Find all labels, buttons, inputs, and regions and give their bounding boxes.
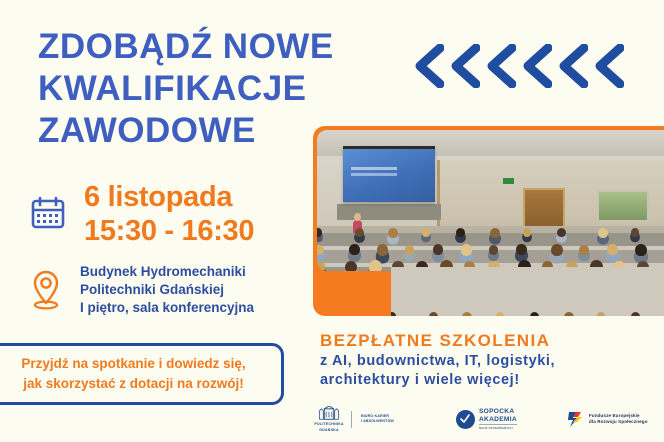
logo-politechnika-gdanska: POLITECHNIKA GDAŃSKA BIURO KARIER I ABSO… xyxy=(316,406,394,432)
audience-head xyxy=(462,312,472,317)
event-location-text: Budynek Hydromechaniki Politechniki Gdań… xyxy=(80,263,254,317)
eu-stars-glyph xyxy=(565,409,585,429)
chevron-left-icon xyxy=(482,44,516,88)
photo-scene-continued xyxy=(391,267,664,316)
location-line-1: Budynek Hydromechaniki xyxy=(80,263,254,281)
sopocka-subtitle: NAUK STOSOWANYCH xyxy=(479,424,517,430)
promo-line-2: architektury i wiele więcej! xyxy=(320,371,660,390)
photo-composition xyxy=(313,126,664,316)
lecture-hall-photo-lower xyxy=(391,267,664,316)
audience-head xyxy=(523,228,531,236)
logo-divider xyxy=(351,411,352,428)
cta-line-2: jak skorzystać z dotacji na rozwój! xyxy=(21,374,245,394)
cta-line-1: Przyjdź na spotkanie i dowiedz się, xyxy=(21,354,245,374)
audience-head xyxy=(355,228,364,237)
scene-projector-screen xyxy=(343,146,435,202)
event-time: 15:30 - 16:30 xyxy=(84,214,254,248)
sopocka-line-2: AKADEMIA xyxy=(479,416,517,424)
audience-head xyxy=(496,312,504,316)
eu-wordmark: Fundusze Europejskie dla Rozwoju Społecz… xyxy=(589,413,648,425)
photo-scene xyxy=(317,130,664,271)
pg-crest-glyph xyxy=(317,406,341,421)
headline-line-2: KWALIFIKACJE xyxy=(38,68,408,110)
promo-line-1: z AI, budownictwa, IT, logistyki, xyxy=(320,352,660,371)
audience-head xyxy=(317,245,324,255)
scene-audience xyxy=(317,226,664,271)
chevron-left-icon xyxy=(554,44,588,88)
audience-head xyxy=(631,312,640,316)
pg-subunit-line-2: I ABSOLWENTÓW xyxy=(361,419,394,424)
audience-head xyxy=(579,245,589,255)
chevron-left-icon xyxy=(518,44,552,88)
audience-head xyxy=(422,228,430,236)
pg-name-line-1: POLITECHNIKA xyxy=(314,422,343,426)
pg-crest-icon: POLITECHNIKA GDAŃSKA xyxy=(316,406,342,432)
audience-head xyxy=(635,244,647,256)
chevron-left-icon xyxy=(590,44,624,88)
audience-head xyxy=(490,228,500,239)
audience-head xyxy=(607,244,618,255)
map-pin-icon xyxy=(28,268,64,312)
check-glyph xyxy=(459,413,471,425)
event-location-block: Budynek Hydromechaniki Politechniki Gdań… xyxy=(28,263,254,317)
calendar-icon xyxy=(28,194,68,234)
audience-head xyxy=(631,228,639,236)
location-line-2: Politechniki Gdańskiej xyxy=(80,281,254,299)
chevron-left-icon xyxy=(446,44,480,88)
audience-head xyxy=(456,228,465,237)
event-date: 6 listopada xyxy=(84,180,254,214)
cta-box: Przyjdź na spotkanie i dowiedz się, jak … xyxy=(0,343,284,405)
promo-block: BEZPŁATNE SZKOLENIA z AI, budownictwa, I… xyxy=(320,330,660,390)
audience-head xyxy=(317,261,325,271)
logo-sopocka-akademia: SOPOCKA AKADEMIA NAUK STOSOWANYCH xyxy=(456,408,517,429)
audience-head xyxy=(369,260,382,271)
promo-title: BEZPŁATNE SZKOLENIA xyxy=(320,330,660,352)
audience-head xyxy=(391,312,396,316)
sopocka-line-1: SOPOCKA xyxy=(479,408,517,416)
scene-exit-sign xyxy=(503,178,514,184)
audience-head xyxy=(530,312,539,316)
audience-head xyxy=(345,261,357,272)
scene-audience-lower xyxy=(391,267,664,316)
scene-whiteboard xyxy=(337,204,441,220)
eu-flag-icon xyxy=(565,409,585,429)
cta-text: Przyjdź na spotkanie i dowiedz się, jak … xyxy=(21,354,245,394)
audience-head xyxy=(349,244,360,255)
audience-head xyxy=(564,312,574,317)
audience-head xyxy=(405,245,415,255)
location-line-3: I piętro, sala konferencyjna xyxy=(80,299,254,317)
audience-head xyxy=(598,228,608,239)
sopocka-wordmark: SOPOCKA AKADEMIA NAUK STOSOWANYCH xyxy=(479,408,517,429)
audience-head xyxy=(317,228,322,236)
pg-name-line-2: GDAŃSKA xyxy=(319,428,339,432)
audience-head xyxy=(551,244,563,256)
audience-head xyxy=(597,312,605,316)
logo-fundusze-europejskie: Fundusze Europejskie dla Rozwoju Społecz… xyxy=(565,409,648,429)
pg-subunit: BIURO KARIER I ABSOLWENTÓW xyxy=(361,414,394,424)
audience-head xyxy=(489,245,499,255)
audience-head xyxy=(461,244,473,256)
lecture-hall-photo xyxy=(317,130,664,271)
eu-line-2: dla Rozwoju Społecznego xyxy=(589,419,648,425)
chevron-decoration xyxy=(410,44,624,88)
headline-line-1: ZDOBĄDŹ NOWE xyxy=(38,26,408,68)
sopocka-check-icon xyxy=(456,410,475,429)
audience-head xyxy=(557,228,566,237)
audience-head xyxy=(516,244,527,255)
scene-door xyxy=(523,188,565,230)
chevron-left-icon xyxy=(410,44,444,88)
audience-head xyxy=(429,312,438,316)
logo-bar: POLITECHNIKA GDAŃSKA BIURO KARIER I ABSO… xyxy=(316,400,660,438)
event-datetime-text: 6 listopada 15:30 - 16:30 xyxy=(84,180,254,248)
scene-window xyxy=(597,190,649,222)
event-date-block: 6 listopada 15:30 - 16:30 xyxy=(28,180,254,248)
audience-head xyxy=(377,244,389,256)
